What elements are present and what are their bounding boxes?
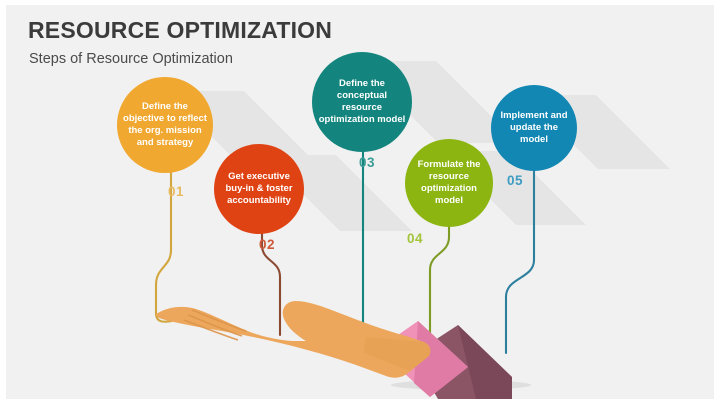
step-label-04: Formulate the resource optimization mode… (409, 159, 489, 208)
connector-line-04 (430, 217, 449, 345)
step-number-01: 01 (168, 184, 184, 199)
step-number-04: 04 (407, 231, 423, 246)
step-label-05: Implement and update the model (495, 110, 573, 146)
step-circle-04[interactable]: Formulate the resource optimization mode… (405, 139, 493, 227)
step-circle-02[interactable]: Get executive buy-in & foster accountabi… (214, 144, 304, 234)
open-hand-illustration (156, 301, 512, 399)
step-number-02: 02 (259, 237, 275, 252)
step-label-03: Define the conceptual resource optimizat… (316, 78, 408, 127)
step-label-01: Define the objective to reflect the org.… (121, 101, 209, 150)
step-circle-05[interactable]: Implement and update the model (491, 85, 577, 171)
step-number-03: 03 (359, 155, 375, 170)
step-number-05: 05 (507, 173, 523, 188)
step-circle-03[interactable]: Define the conceptual resource optimizat… (312, 52, 412, 152)
step-circle-01[interactable]: Define the objective to reflect the org.… (117, 77, 213, 173)
infographic-canvas: RESOURCE OPTIMIZATION Steps of Resource … (6, 5, 714, 399)
slide: RESOURCE OPTIMIZATION Steps of Resource … (0, 0, 720, 404)
step-label-02: Get executive buy-in & foster accountabi… (218, 171, 300, 207)
